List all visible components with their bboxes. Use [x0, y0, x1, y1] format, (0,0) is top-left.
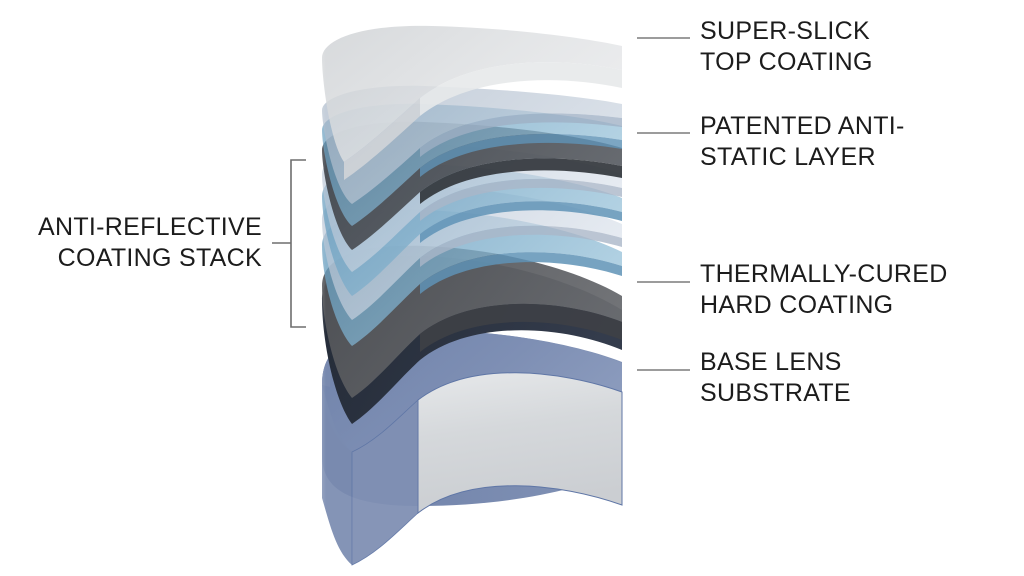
label-line-1: THERMALLY-CURED [700, 259, 948, 290]
label-thermally-cured-hard-coating: THERMALLY-CURED HARD COATING [700, 259, 948, 321]
label-patented-anti-static-layer: PATENTED ANTI- STATIC LAYER [700, 111, 905, 173]
label-line-1: ANTI-REFLECTIVE [38, 212, 262, 243]
label-line-2: HARD COATING [700, 290, 948, 321]
label-anti-reflective-coating-stack: ANTI-REFLECTIVE COATING STACK [38, 212, 262, 274]
label-line-2: COATING STACK [38, 243, 262, 274]
label-line-2: SUBSTRATE [700, 378, 851, 409]
label-line-1: BASE LENS [700, 347, 851, 378]
label-base-lens-substrate: BASE LENS SUBSTRATE [700, 347, 851, 409]
label-line-1: SUPER-SLICK [700, 16, 873, 47]
label-line-2: STATIC LAYER [700, 142, 905, 173]
label-line-1: PATENTED ANTI- [700, 111, 905, 142]
leader-lines-right [637, 38, 690, 370]
left-edge-fade [300, 0, 326, 576]
label-super-slick-top-coating: SUPER-SLICK TOP COATING [700, 16, 873, 78]
label-line-2: TOP COATING [700, 47, 873, 78]
